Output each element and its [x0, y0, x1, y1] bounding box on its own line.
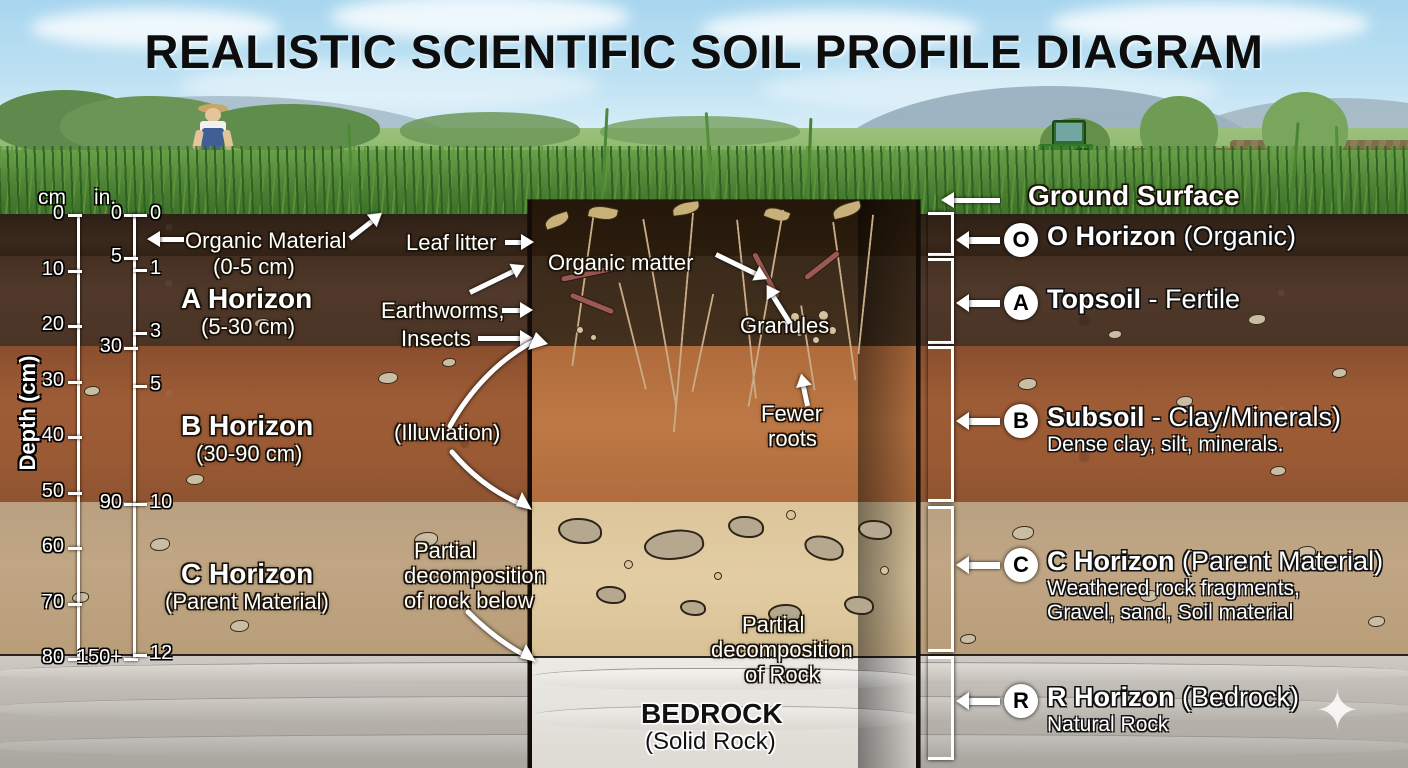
arrow-earthworms [502, 308, 522, 313]
inch-tick-label: 5 [150, 373, 161, 396]
arrow-left-icon [956, 691, 1000, 711]
soil-granule [576, 326, 584, 334]
page-title: REALISTIC SCIENTIFIC SOIL PROFILE DIAGRA… [0, 24, 1408, 79]
callout-bedrock-sub: (Solid Rock) [645, 728, 776, 756]
horizon-badge-a: A [1004, 286, 1038, 320]
horizon-depth-tick [124, 257, 138, 260]
horizon-bracket-r [928, 656, 954, 760]
legend-title: O Horizon (Organic) [1047, 221, 1296, 252]
callout-organic-matter: Organic matter [548, 250, 694, 275]
arrow-ground-surface [952, 198, 1000, 203]
label-organic-material: Organic Material [185, 228, 346, 253]
callout-earthworms: Earthworms, [381, 298, 504, 323]
curve-partial-decomp [464, 610, 544, 666]
arrow-to-organic-material [158, 237, 184, 242]
curve-illuviation-down [448, 448, 538, 518]
inch-tick-label: 0 [150, 202, 161, 225]
horizon-depth-tick [124, 658, 138, 661]
cm-tick [68, 270, 82, 273]
cm-tick-label: 10 [42, 258, 64, 281]
legend-title: Subsoil - Clay/Minerals) [1047, 402, 1341, 433]
inch-tick [133, 269, 147, 272]
horizon-badge-b: B [1004, 404, 1038, 438]
sand-grain [786, 510, 796, 520]
legend-text: O Horizon (Organic) [1047, 221, 1296, 252]
horizon-depth-label: 150+ [77, 646, 122, 669]
horizon-depth-tick [124, 347, 138, 350]
arrow-leaf-litter [505, 240, 523, 245]
legend-text: C Horizon (Parent Material)Weathered roc… [1047, 546, 1383, 625]
label-a-horizon: A Horizon [181, 283, 312, 315]
horizon-depth-label: 5 [111, 245, 122, 268]
callout-leaf-litter: Leaf litter [406, 230, 497, 255]
label-b-horizon-range: (30-90 cm) [196, 441, 302, 466]
cm-tick-label: 0 [53, 202, 64, 225]
soil-granule [590, 334, 597, 341]
cm-tick [68, 492, 82, 495]
callout-partial-decomp-line1: Partial [414, 538, 476, 563]
sand-grain [714, 572, 722, 580]
horizon-bracket-o [928, 212, 954, 256]
soil-granule [828, 326, 837, 335]
sparkle-icon: ✦ [1315, 684, 1360, 738]
cm-tick-label: 20 [42, 313, 64, 336]
cm-tick [68, 325, 82, 328]
inch-tick-label: 12 [150, 642, 172, 665]
legend-subtitle: Weathered rock fragments, [1047, 577, 1383, 601]
callout-partial-rock-line1: Partial [742, 612, 804, 637]
cm-tick-label: 60 [42, 535, 64, 558]
legend-title: Topsoil - Fertile [1047, 284, 1240, 315]
legend-row-c[interactable]: CC Horizon (Parent Material)Weathered ro… [956, 546, 1383, 625]
cm-tick-label: 40 [42, 424, 64, 447]
horizon-bracket-a [928, 258, 954, 344]
soil-profile-diagram: ✦ [0, 0, 1408, 768]
tree-cluster-mid [400, 112, 580, 148]
label-c-horizon-sub: (Parent Material) [165, 589, 329, 614]
cm-tick-label: 50 [42, 480, 64, 503]
cm-tick [68, 603, 82, 606]
sand-grain [880, 566, 889, 575]
legend-subtitle: Gravel, sand, Soil material [1047, 601, 1383, 625]
legend-subtitle: Dense clay, silt, minerals. [1047, 433, 1341, 457]
legend-row-r[interactable]: RR Horizon (Bedrock)Natural Rock [956, 682, 1299, 737]
cm-tick [68, 436, 82, 439]
callout-partial-rock-line3: of Rock [745, 662, 820, 687]
inch-tick [133, 332, 147, 335]
depth-axis-label: Depth (cm) [15, 353, 41, 473]
inch-tick-label: 1 [150, 257, 161, 280]
legend-title: C Horizon (Parent Material) [1047, 546, 1383, 577]
horizon-bracket-c [928, 506, 954, 652]
label-organic-material-range: (0-5 cm) [213, 254, 295, 279]
callout-fewer-roots-line1: Fewer [761, 401, 822, 426]
callout-bedrock: BEDROCK [641, 698, 783, 730]
cm-tick [68, 214, 82, 217]
label-c-horizon: C Horizon [181, 558, 313, 590]
legend-text: Subsoil - Clay/Minerals)Dense clay, silt… [1047, 402, 1341, 457]
horizon-badge-r: R [1004, 684, 1038, 718]
label-a-horizon-range: (5-30 cm) [201, 314, 295, 339]
arrow-left-icon [956, 411, 1000, 431]
horizon-depth-label: 30 [100, 335, 122, 358]
horizon-badge-c: C [1004, 548, 1038, 582]
inch-tick [133, 385, 147, 388]
arrow-left-icon [956, 293, 1000, 313]
soil-cutaway-panel [528, 200, 920, 768]
inch-tick-label: 3 [150, 320, 161, 343]
legend-text: R Horizon (Bedrock)Natural Rock [1047, 682, 1299, 737]
sand-grain [624, 560, 633, 569]
rock-fragment [680, 600, 706, 616]
callout-partial-rock-line2: decomposition [711, 637, 853, 662]
inch-tick [133, 503, 147, 506]
cm-tick [68, 547, 82, 550]
inch-ruler-line [133, 215, 136, 659]
legend-subtitle: Natural Rock [1047, 713, 1299, 737]
legend-text: Topsoil - Fertile [1047, 284, 1240, 315]
label-b-horizon: B Horizon [181, 410, 313, 442]
horizon-badge-o: O [1004, 223, 1038, 257]
cm-tick-label: 30 [42, 369, 64, 392]
cm-tick-label: 70 [42, 591, 64, 614]
cm-tick-label: 80 [42, 646, 64, 669]
arrow-left-icon [956, 555, 1000, 575]
inch-tick [133, 654, 147, 657]
tree-cluster-mid-2 [600, 116, 800, 146]
horizon-depth-label: 0 [111, 202, 122, 225]
horizon-depth-label: 90 [100, 491, 122, 514]
inch-tick-label: 10 [150, 491, 172, 514]
horizon-bracket-b [928, 346, 954, 502]
legend-row-o[interactable]: OO Horizon (Organic) [956, 221, 1296, 257]
cm-tick [68, 381, 82, 384]
legend-row-b[interactable]: BSubsoil - Clay/Minerals)Dense clay, sil… [956, 402, 1341, 457]
curve-illuviation-up [440, 330, 550, 430]
inch-tick [133, 214, 147, 217]
legend-row-a[interactable]: ATopsoil - Fertile [956, 284, 1240, 320]
callout-partial-decomp-line2: decomposition [404, 563, 546, 588]
callout-fewer-roots-line2: roots [768, 426, 817, 451]
legend-title: R Horizon (Bedrock) [1047, 682, 1299, 713]
label-ground-surface: Ground Surface [1028, 180, 1240, 212]
arrow-left-icon [956, 230, 1000, 250]
